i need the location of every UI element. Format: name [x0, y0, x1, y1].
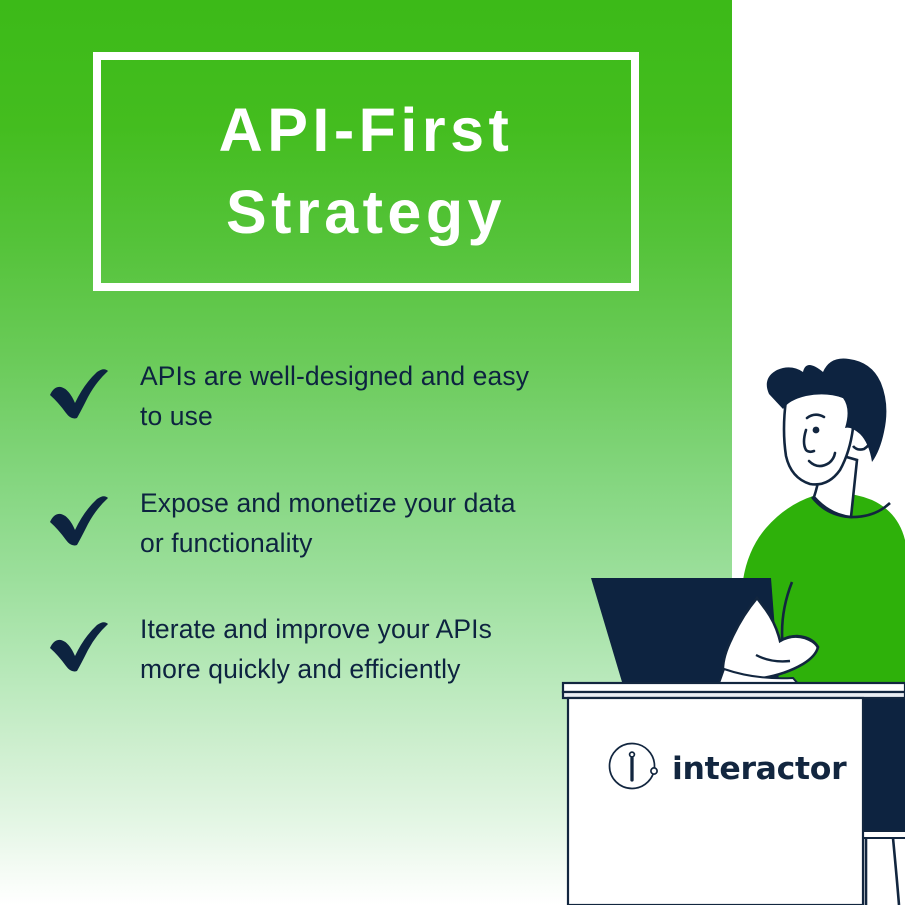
- list-item-label: APIs are well-designed and easy to use: [140, 352, 529, 437]
- check-icon: [48, 479, 140, 547]
- page-title: API-First Strategy: [93, 52, 639, 291]
- neck: [814, 450, 857, 517]
- list-item-label: Expose and monetize your data or functio…: [140, 479, 516, 564]
- hand: [780, 637, 818, 648]
- benefits-list: APIs are well-designed and easy to use E…: [48, 352, 648, 732]
- nose: [804, 430, 814, 452]
- face: [784, 391, 856, 484]
- chair-back: [861, 688, 905, 833]
- tshirt: [743, 493, 905, 688]
- interactor-logo-text: interactor: [672, 751, 846, 787]
- ear: [853, 419, 873, 450]
- eye: [813, 427, 820, 434]
- smile: [809, 453, 835, 466]
- hair: [767, 359, 887, 462]
- chair-legs: [866, 838, 899, 905]
- tshirt-sleeve-seam: [782, 582, 792, 648]
- interactor-logo: interactor: [607, 740, 846, 797]
- chair-seat-bar: [858, 831, 905, 838]
- check-icon: [48, 352, 140, 420]
- list-item-label: Iterate and improve your APIs more quick…: [140, 605, 492, 690]
- list-item: APIs are well-designed and easy to use: [48, 352, 648, 437]
- list-item: Iterate and improve your APIs more quick…: [48, 605, 648, 690]
- right-arm: [830, 601, 905, 676]
- left-arm: [723, 598, 818, 678]
- list-item: Expose and monetize your data or functio…: [48, 479, 648, 564]
- poster-canvas: API-First Strategy APIs are well-designe…: [0, 0, 905, 905]
- tshirt-collar: [812, 497, 890, 517]
- check-icon: [48, 605, 140, 673]
- interactor-circle-i-icon: [607, 740, 659, 797]
- arm-crease: [756, 655, 790, 661]
- eyebrow: [807, 415, 824, 418]
